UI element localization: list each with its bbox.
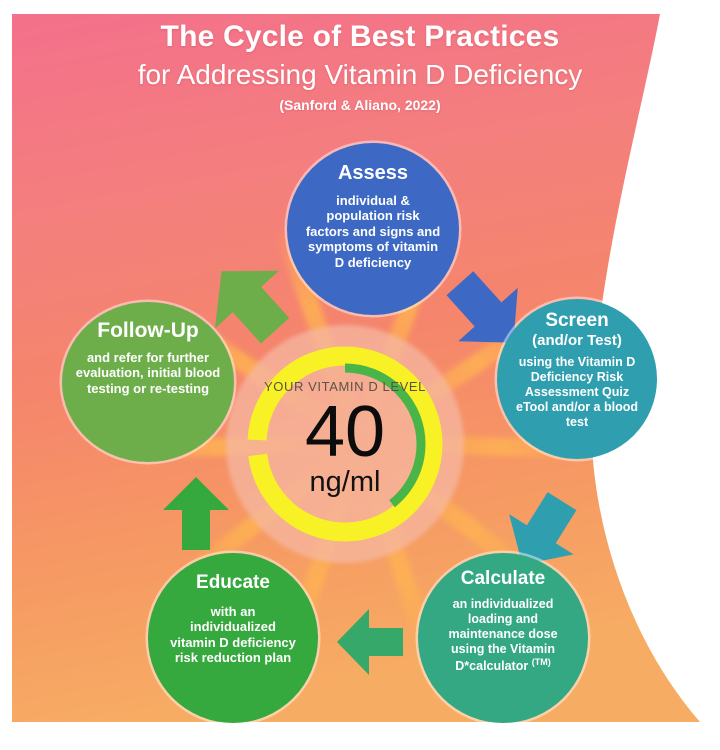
node-calculate[interactable]: Calculate an individualized loading and … [418, 553, 588, 723]
node-followup[interactable]: Follow-Up and refer for further evaluati… [62, 302, 234, 462]
node-educate-title: Educate [196, 573, 270, 594]
gauge-readout: YOUR VITAMIN D LEVEL 40 ng/ml [236, 335, 454, 553]
infographic-canvas: The Cycle of Best Practices for Addressi… [0, 0, 720, 750]
node-assess-title: Assess [338, 163, 408, 185]
arrow-educate-to-followup [148, 470, 244, 560]
node-screen-subtitle: (and/or Test) [532, 333, 622, 350]
node-screen[interactable]: Screen (and/or Test) using the Vitamin D… [497, 299, 657, 459]
node-assess[interactable]: Assess individual & population risk fact… [287, 143, 459, 315]
node-assess-body: individual & population risk factors and… [305, 193, 441, 271]
node-calculate-title: Calculate [461, 569, 545, 590]
trademark-superscript: (TM) [532, 657, 551, 667]
node-followup-body: and refer for further evaluation, initia… [75, 350, 221, 397]
node-calculate-body: an individualized loading and maintenanc… [433, 597, 573, 674]
gauge-value: 40 [305, 399, 385, 465]
arrow-calculate-to-educate [325, 600, 421, 684]
node-screen-title: Screen [545, 311, 608, 332]
node-educate-body: with an individualized vitamin D deficie… [166, 604, 300, 666]
node-educate[interactable]: Educate with an individualized vitamin D… [148, 553, 318, 723]
node-followup-title: Follow-Up [97, 320, 198, 343]
node-screen-body: using the Vitamin D Deficiency Risk Asse… [511, 355, 643, 430]
gauge-unit: ng/ml [310, 468, 381, 497]
